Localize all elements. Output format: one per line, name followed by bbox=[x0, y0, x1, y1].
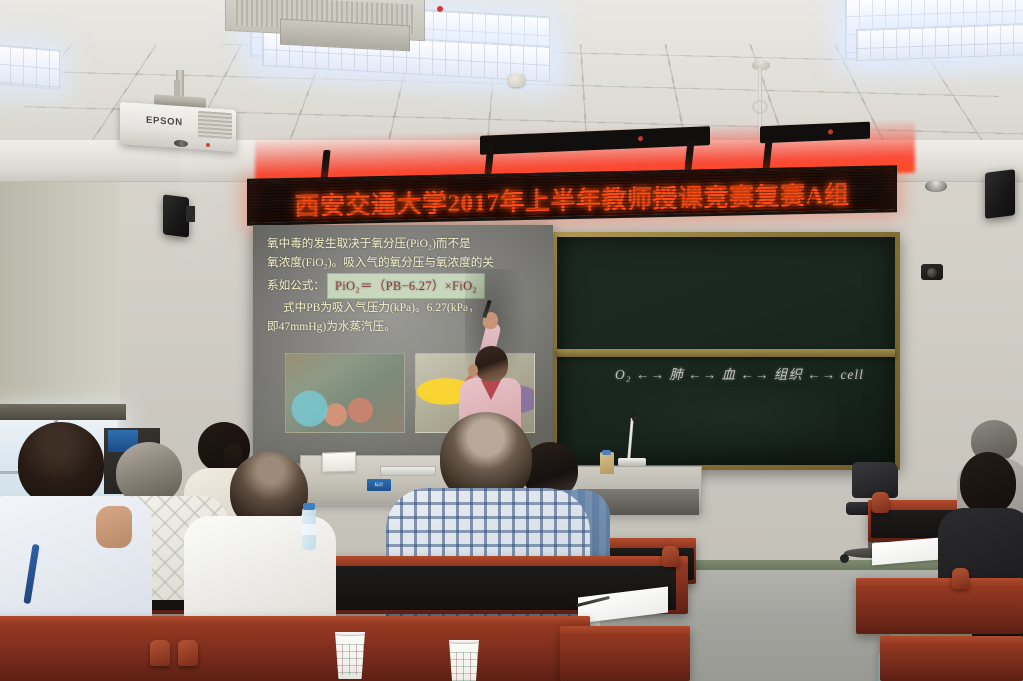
bench-desk bbox=[880, 636, 1023, 681]
dome-camera-icon bbox=[925, 180, 947, 192]
blackboard: O₂ ←→ 肺 ←→ 血 ←→ 组织 ←→ cell bbox=[557, 237, 895, 465]
projector-power-led bbox=[206, 143, 210, 147]
bench-knob bbox=[178, 640, 198, 666]
microphone-base bbox=[618, 458, 646, 466]
paper-cup bbox=[447, 640, 481, 681]
curtain-rail bbox=[0, 404, 126, 420]
mount-indicator-led bbox=[638, 136, 643, 141]
bench-desk bbox=[0, 616, 590, 681]
slide-formula: PiO₂＝（PB−6.27）×FiO₂ bbox=[327, 273, 485, 299]
smoke-detector-icon bbox=[508, 74, 525, 87]
bench-desk bbox=[856, 578, 1023, 634]
presenter-ear bbox=[468, 364, 478, 377]
audience-person bbox=[0, 422, 142, 622]
slide-line-1: 氧中毒的发生取决于氧分压(PiO₂)而不是 bbox=[267, 235, 543, 254]
bench-top bbox=[0, 616, 590, 626]
bench-knob bbox=[150, 640, 170, 666]
chair-wheel bbox=[840, 554, 849, 563]
speaker-icon bbox=[985, 169, 1015, 219]
camera-head-icon bbox=[752, 100, 768, 114]
person-head bbox=[960, 452, 1016, 514]
person-head bbox=[18, 422, 104, 506]
bench-desk bbox=[560, 626, 690, 681]
projector-vent bbox=[198, 111, 232, 139]
blackboard-chalk-text: O₂ ←→ 肺 ←→ 血 ←→ 组织 ←→ cell bbox=[615, 363, 875, 383]
slide-formula-prefix: 系如公式： bbox=[267, 278, 325, 291]
microphone-icon bbox=[632, 414, 638, 422]
paper-cup bbox=[333, 632, 367, 679]
bench-top bbox=[560, 626, 690, 636]
ac-indicator-light bbox=[437, 6, 443, 12]
blackboard-frame: O₂ ←→ 肺 ←→ 血 ←→ 组织 ←→ cell bbox=[552, 232, 900, 470]
presenter-head bbox=[475, 346, 508, 382]
ceiling-light-panel bbox=[0, 42, 60, 90]
wall-camera-icon bbox=[919, 262, 945, 284]
bench-knob bbox=[872, 492, 889, 513]
bottle-cap bbox=[303, 503, 315, 510]
ceiling-light-panel bbox=[856, 23, 1023, 61]
person-hand bbox=[96, 506, 132, 548]
slide-photo-left bbox=[285, 353, 405, 433]
mount-indicator-led bbox=[828, 129, 833, 134]
chalk-smudge bbox=[597, 387, 837, 457]
wall-bracket bbox=[186, 206, 195, 222]
bottle-label bbox=[302, 524, 316, 535]
bench-knob bbox=[662, 546, 679, 567]
bench-top bbox=[856, 578, 1023, 588]
bench-knob bbox=[952, 568, 969, 589]
bench-top bbox=[880, 636, 1023, 646]
chalk-rail bbox=[557, 349, 895, 357]
classroom-scene: EPSON 西安交通大学2017年上半年教师授课竞赛复赛A组 O₂ ←→ 肺 ←… bbox=[0, 0, 1023, 681]
